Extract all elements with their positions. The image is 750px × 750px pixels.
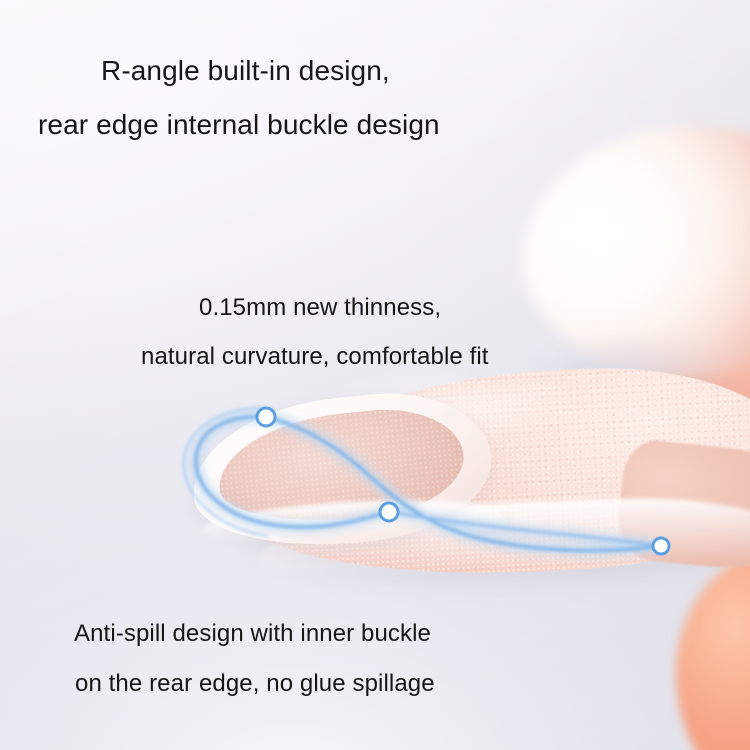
bottom-caption-line-2: on the rear edge, no glue spillage: [0, 659, 750, 709]
bottom-caption-block: Anti-spill design with inner buckle on t…: [0, 609, 750, 709]
product-marketing-image: R-angle built-in design, rear edge inter…: [0, 0, 750, 750]
heading-text-block: R-angle built-in design, rear edge inter…: [0, 44, 750, 152]
heading-line-1: R-angle built-in design,: [0, 44, 750, 98]
middle-caption-line-1: 0.15mm new thinness,: [0, 283, 750, 332]
nail-wrap-product: [150, 352, 750, 602]
middle-caption-block: 0.15mm new thinness, natural curvature, …: [0, 283, 750, 381]
bottom-caption-line-1: Anti-spill design with inner buckle: [0, 609, 750, 659]
heading-line-2: rear edge internal buckle design: [0, 98, 750, 152]
middle-caption-line-2: natural curvature, comfortable fit: [0, 332, 750, 381]
